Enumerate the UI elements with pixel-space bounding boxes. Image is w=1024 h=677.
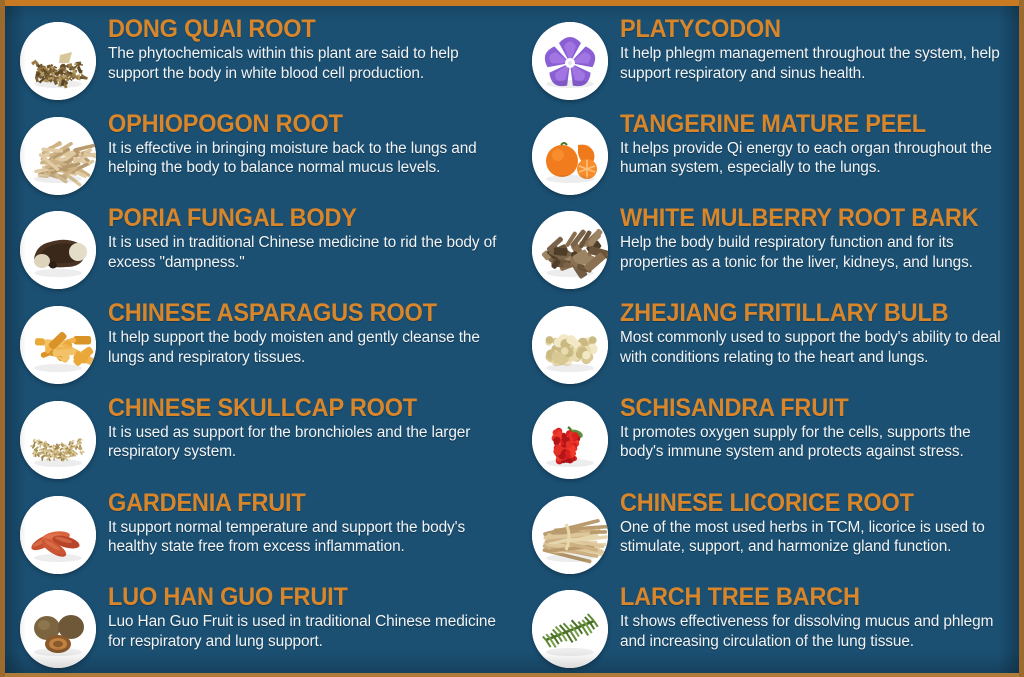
ingredient-description: It help phlegm management throughout the…: [620, 44, 1018, 83]
ingredient-title: WHITE MULBERRY ROOT BARK: [620, 205, 994, 232]
ingredient-text-block: DONG QUAI ROOTThe phytochemicals within …: [96, 14, 512, 83]
ingredient-text-block: SCHISANDRA FRUITIt promotes oxygen suppl…: [608, 393, 1024, 462]
luo-han-guo-fruit-photo: [20, 590, 96, 668]
dong-quai-root-photo: [20, 22, 96, 100]
ingredient-description: It is effective in bringing moisture bac…: [108, 139, 504, 178]
herbal-ingredients-infographic: DONG QUAI ROOTThe phytochemicals within …: [0, 0, 1024, 677]
ingredient-description: One of the most used herbs in TCM, licor…: [620, 518, 1018, 557]
ingredient-entry: PLATYCODONIt help phlegm management thro…: [512, 14, 1024, 109]
ingredient-text-block: PORIA FUNGAL BODYIt is used in tradition…: [96, 203, 512, 272]
ingredient-title: PORIA FUNGAL BODY: [108, 205, 480, 232]
ingredient-entry: PORIA FUNGAL BODYIt is used in tradition…: [0, 203, 512, 298]
ingredient-title: OPHIOPOGON ROOT: [108, 111, 480, 138]
ingredient-title: CHINESE SKULLCAP ROOT: [108, 395, 480, 422]
ingredient-entry: OPHIOPOGON ROOTIt is effective in bringi…: [0, 109, 512, 204]
zhejiang-fritillary-bulb-photo: [532, 306, 608, 384]
ingredient-description: It support normal temperature and suppor…: [108, 518, 504, 557]
ingredient-title: LUO HAN GUO FRUIT: [108, 584, 480, 611]
ophiopogon-root-photo: [20, 117, 96, 195]
ingredient-title: PLATYCODON: [620, 16, 994, 43]
ingredient-columns: DONG QUAI ROOTThe phytochemicals within …: [0, 0, 1024, 677]
bottom-border: [0, 673, 1024, 677]
ingredient-entry: GARDENIA FRUITIt support normal temperat…: [0, 488, 512, 583]
left-column: DONG QUAI ROOTThe phytochemicals within …: [0, 0, 512, 677]
schisandra-fruit-photo: [532, 401, 608, 479]
ingredient-description: The phytochemicals within this plant are…: [108, 44, 504, 83]
ingredient-text-block: LARCH TREE BARCHIt shows effectiveness f…: [608, 582, 1024, 651]
ingredient-description: It helps provide Qi energy to each organ…: [620, 139, 1018, 178]
right-column: PLATYCODONIt help phlegm management thro…: [512, 0, 1024, 677]
white-mulberry-root-bark-photo: [532, 211, 608, 289]
ingredient-text-block: TANGERINE MATURE PEELIt helps provide Qi…: [608, 109, 1024, 178]
ingredient-entry: CHINESE ASPARAGUS ROOTIt help support th…: [0, 298, 512, 393]
ingredient-text-block: CHINESE LICORICE ROOTOne of the most use…: [608, 488, 1024, 557]
ingredient-title: LARCH TREE BARCH: [620, 584, 994, 611]
ingredient-description: It is used as support for the bronchiole…: [108, 423, 504, 462]
ingredient-description: It help support the body moisten and gen…: [108, 328, 504, 367]
ingredient-title: TANGERINE MATURE PEEL: [620, 111, 994, 138]
top-border: [0, 0, 1024, 6]
ingredient-entry: LARCH TREE BARCHIt shows effectiveness f…: [512, 582, 1024, 677]
ingredient-entry: TANGERINE MATURE PEELIt helps provide Qi…: [512, 109, 1024, 204]
tangerine-mature-peel-photo: [532, 117, 608, 195]
ingredient-title: DONG QUAI ROOT: [108, 16, 480, 43]
ingredient-text-block: OPHIOPOGON ROOTIt is effective in bringi…: [96, 109, 512, 178]
ingredient-text-block: PLATYCODONIt help phlegm management thro…: [608, 14, 1024, 83]
left-border: [0, 0, 5, 677]
ingredient-title: ZHEJIANG FRITILLARY BULB: [620, 300, 994, 327]
chinese-asparagus-root-photo: [20, 306, 96, 384]
ingredient-entry: SCHISANDRA FRUITIt promotes oxygen suppl…: [512, 393, 1024, 488]
larch-tree-barch-photo: [532, 590, 608, 668]
ingredient-entry: DONG QUAI ROOTThe phytochemicals within …: [0, 14, 512, 109]
ingredient-text-block: LUO HAN GUO FRUITLuo Han Guo Fruit is us…: [96, 582, 512, 651]
ingredient-entry: WHITE MULBERRY ROOT BARKHelp the body bu…: [512, 203, 1024, 298]
platycodon-flower-photo: [532, 22, 608, 100]
ingredient-text-block: CHINESE ASPARAGUS ROOTIt help support th…: [96, 298, 512, 367]
chinese-skullcap-root-photo: [20, 401, 96, 479]
ingredient-title: GARDENIA FRUIT: [108, 490, 480, 517]
ingredient-title: CHINESE LICORICE ROOT: [620, 490, 994, 517]
poria-fungal-body-photo: [20, 211, 96, 289]
right-border: [1019, 0, 1024, 677]
ingredient-description: Most commonly used to support the body's…: [620, 328, 1018, 367]
ingredient-text-block: GARDENIA FRUITIt support normal temperat…: [96, 488, 512, 557]
ingredient-title: CHINESE ASPARAGUS ROOT: [108, 300, 480, 327]
ingredient-text-block: CHINESE SKULLCAP ROOTIt is used as suppo…: [96, 393, 512, 462]
ingredient-description: It promotes oxygen supply for the cells,…: [620, 423, 1018, 462]
ingredient-entry: ZHEJIANG FRITILLARY BULBMost commonly us…: [512, 298, 1024, 393]
ingredient-description: It is used in traditional Chinese medici…: [108, 233, 504, 272]
ingredient-entry: CHINESE SKULLCAP ROOTIt is used as suppo…: [0, 393, 512, 488]
gardenia-fruit-photo: [20, 496, 96, 574]
ingredient-description: Luo Han Guo Fruit is used in traditional…: [108, 612, 504, 651]
ingredient-entry: LUO HAN GUO FRUITLuo Han Guo Fruit is us…: [0, 582, 512, 677]
ingredient-entry: CHINESE LICORICE ROOTOne of the most use…: [512, 488, 1024, 583]
ingredient-description: It shows effectiveness for dissolving mu…: [620, 612, 1018, 651]
ingredient-text-block: ZHEJIANG FRITILLARY BULBMost commonly us…: [608, 298, 1024, 367]
ingredient-description: Help the body build respiratory function…: [620, 233, 1018, 272]
ingredient-text-block: WHITE MULBERRY ROOT BARKHelp the body bu…: [608, 203, 1024, 272]
ingredient-title: SCHISANDRA FRUIT: [620, 395, 994, 422]
chinese-licorice-root-photo: [532, 496, 608, 574]
